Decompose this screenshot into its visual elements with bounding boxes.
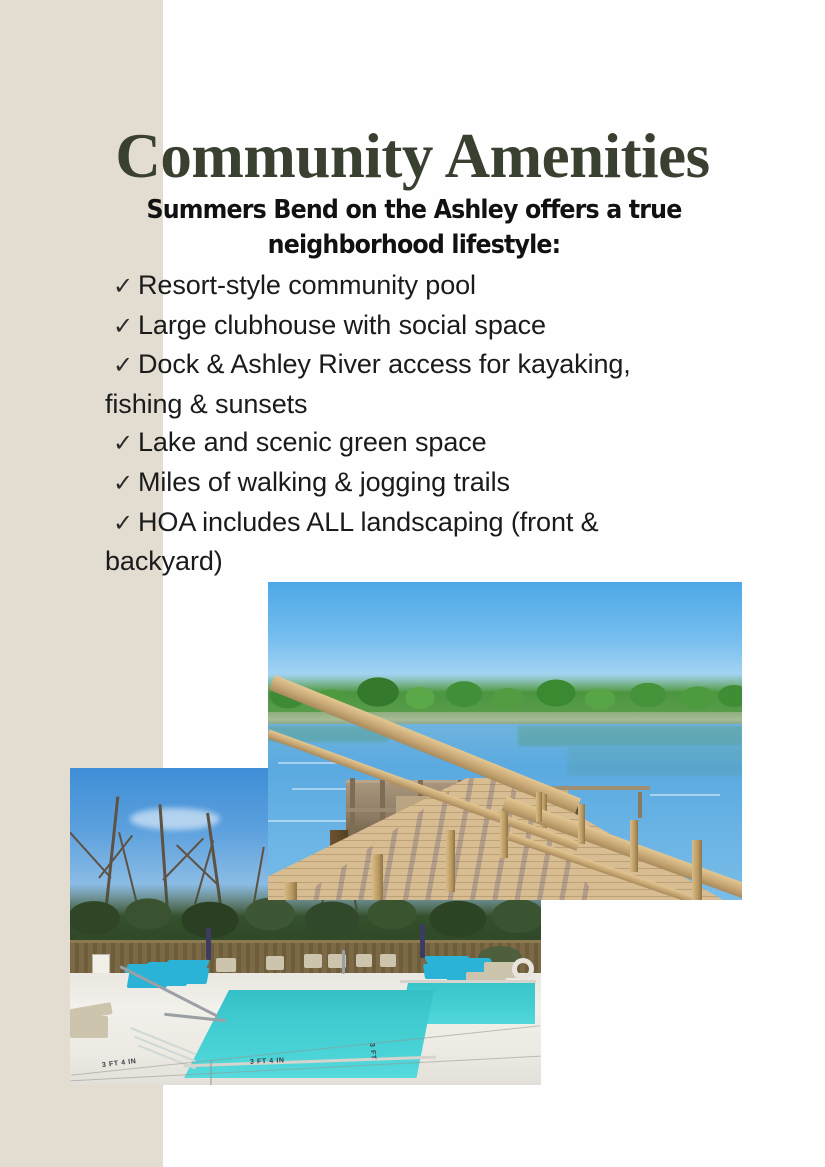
poster-page: Community Amenities Summers Bend on the … [0, 0, 825, 1167]
water-reflection [518, 726, 742, 746]
list-item: ✓Resort-style community pool [105, 266, 715, 306]
lounge-chair [70, 1016, 108, 1038]
list-item: ✓Lake and scenic green space [105, 423, 715, 463]
list-item: ✓HOA includes ALL landscaping (front & b… [105, 503, 715, 581]
check-icon: ✓ [113, 469, 138, 497]
railing-post [692, 840, 702, 900]
check-icon: ✓ [113, 429, 138, 457]
railing-post [372, 854, 383, 900]
pool-rules-sign [92, 954, 110, 974]
pool-ladder [342, 950, 345, 974]
dock-photo [268, 582, 742, 900]
water-shimmer [650, 794, 720, 796]
closed-umbrella [420, 924, 425, 958]
check-icon: ✓ [113, 351, 138, 379]
subheading: Summers Bend on the Ashley offers a true… [126, 193, 703, 263]
water-shimmer [268, 820, 354, 822]
platform-post [638, 792, 642, 818]
list-item: ✓Large clubhouse with social space [105, 306, 715, 346]
lounge-chair [266, 956, 284, 970]
list-item-label: Miles of walking & jogging trails [138, 467, 510, 497]
page-title: Community Amenities [0, 125, 825, 188]
list-item: ✓Dock & Ashley River access for kayaking… [105, 345, 715, 423]
list-item: ✓Miles of walking & jogging trails [105, 463, 715, 503]
railing-post [446, 830, 455, 892]
platform-rail [550, 786, 650, 790]
list-item-label: Resort-style community pool [138, 270, 476, 300]
railing-post [630, 820, 638, 872]
check-icon: ✓ [113, 312, 138, 340]
lounge-chair [356, 954, 372, 967]
check-icon: ✓ [113, 509, 138, 537]
lounge-chair [380, 954, 396, 967]
life-ring [512, 958, 534, 980]
list-item-label: Dock & Ashley River access for kayaking,… [105, 349, 631, 419]
pool-coping [400, 980, 536, 983]
list-item-label: Lake and scenic green space [138, 427, 487, 457]
lounge-chair [167, 968, 210, 984]
water-reflection [568, 748, 742, 776]
lounge-chair [304, 954, 322, 968]
deck-seam [210, 1060, 212, 1085]
water-shimmer [292, 788, 346, 790]
amenities-list: ✓Resort-style community pool ✓Large club… [105, 266, 715, 581]
lounge-chair [216, 958, 236, 972]
railing-post [536, 792, 542, 822]
railing-post [284, 882, 297, 900]
railing-post [578, 804, 585, 844]
railing-post [500, 810, 508, 858]
list-item-label: Large clubhouse with social space [138, 310, 546, 340]
check-icon: ✓ [113, 272, 138, 300]
list-item-label: HOA includes ALL landscaping (front & ba… [105, 507, 599, 577]
closed-umbrella [206, 928, 211, 960]
